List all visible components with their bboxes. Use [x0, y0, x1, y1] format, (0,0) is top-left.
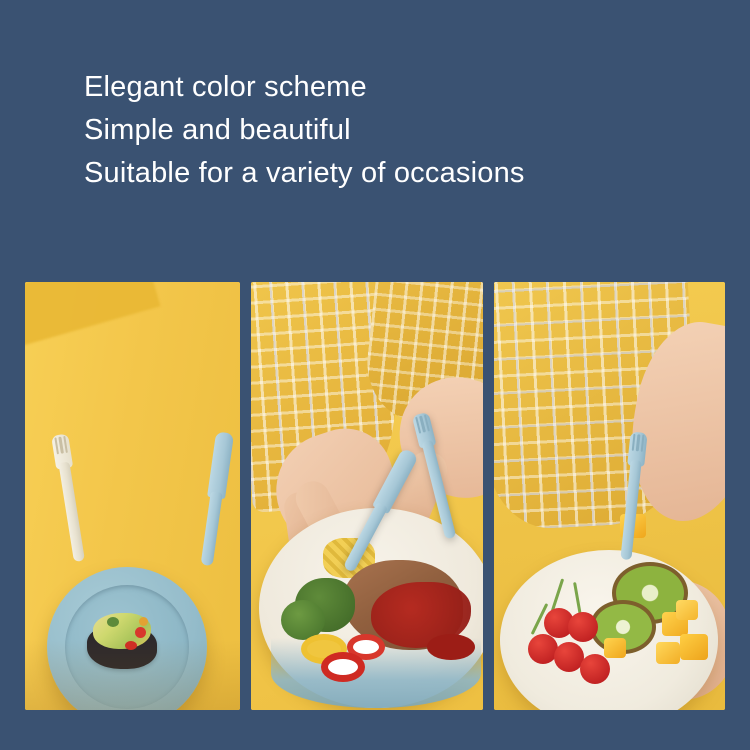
photo-plate-salad: [25, 282, 240, 710]
plaid-sleeve: [494, 282, 700, 531]
headline-line-3: Suitable for a variety of occasions: [84, 152, 704, 195]
cherry-tomato: [125, 641, 137, 650]
plate-blue-underside: [271, 638, 481, 708]
cherry: [554, 642, 584, 672]
mango-cube: [604, 638, 626, 658]
sauce-drip: [427, 634, 475, 660]
photo-steak-cutting: [251, 282, 483, 710]
fork-head: [51, 433, 73, 469]
cream-plate: [259, 508, 483, 708]
knife-blade: [372, 448, 419, 515]
kiwi-slice: [612, 562, 688, 624]
fork-tine: [640, 435, 644, 452]
fork-handle: [421, 440, 456, 540]
photo-gallery: [25, 282, 725, 710]
yellow-table-surface: [494, 282, 725, 710]
plaid-sleeve-right: [362, 282, 483, 428]
plate-well: [65, 585, 189, 709]
right-hand: [387, 365, 483, 509]
kiwi-slice: [590, 600, 656, 654]
mango-cube: [656, 642, 680, 664]
knife-handle: [201, 491, 223, 566]
plaid-sleeve-left: [251, 282, 403, 513]
fork-head: [627, 431, 647, 467]
cherry-tomato: [135, 627, 146, 638]
salad-topping: [93, 613, 151, 649]
fork-tine: [415, 417, 421, 434]
broccoli: [295, 578, 355, 632]
steak-sauce: [371, 582, 471, 648]
headline-line-1: Elegant color scheme: [84, 66, 704, 109]
mango-cube: [662, 612, 688, 636]
fork-tine: [419, 416, 425, 433]
cherry-stem: [551, 578, 564, 611]
red-pepper-ring: [347, 634, 385, 660]
finger: [282, 490, 321, 563]
photo-fruit-plate: [494, 282, 725, 710]
yellow-table-surface: [25, 282, 240, 710]
product-poster: Elegant color scheme Simple and beautifu…: [0, 0, 750, 750]
green-vegetable: [107, 617, 119, 627]
table-bottom-shadow: [25, 640, 240, 710]
cherry: [568, 612, 598, 642]
cherry: [528, 634, 558, 664]
blue-fork: [412, 412, 459, 540]
finger: [387, 446, 452, 534]
mango-cube: [676, 600, 698, 620]
fork-tine: [59, 437, 64, 454]
mango-cube-on-fork: [620, 514, 646, 538]
fork-handle: [58, 462, 85, 562]
cherry-stem: [531, 603, 549, 635]
finger: [290, 475, 362, 570]
fork-tine: [54, 437, 59, 454]
cream-plate: [500, 550, 718, 710]
knife-blade: [207, 431, 234, 499]
black-rice-base: [87, 625, 157, 669]
table-edge-shadow: [25, 282, 160, 348]
broccoli: [281, 600, 325, 640]
yellow-table-surface: [251, 282, 483, 710]
supporting-hand: [601, 571, 725, 710]
fork-handle: [620, 460, 641, 561]
yellow-pepper-ring: [301, 634, 347, 664]
fork-tine: [632, 434, 636, 451]
corn-kernels: [323, 538, 375, 578]
yellow-tomato: [139, 617, 148, 626]
blue-knife: [198, 431, 234, 564]
cherry: [544, 608, 574, 638]
headline-block: Elegant color scheme Simple and beautifu…: [84, 66, 704, 195]
forearm: [618, 313, 725, 531]
fork-tine: [636, 434, 640, 451]
blue-fork: [617, 431, 647, 560]
blue-plate: [47, 567, 207, 710]
knife-handle: [343, 502, 388, 573]
mango-cube: [680, 634, 708, 660]
steak: [343, 560, 463, 650]
cherry: [580, 654, 610, 684]
blue-knife: [341, 448, 419, 573]
cherry-stem: [573, 582, 582, 616]
cream-fork: [51, 433, 88, 562]
headline-line-2: Simple and beautiful: [84, 109, 704, 152]
fork-head: [412, 412, 437, 449]
fork-tine: [63, 436, 68, 453]
fork-tine: [424, 415, 430, 432]
red-pepper-ring: [321, 652, 365, 682]
left-hand: [261, 416, 412, 567]
